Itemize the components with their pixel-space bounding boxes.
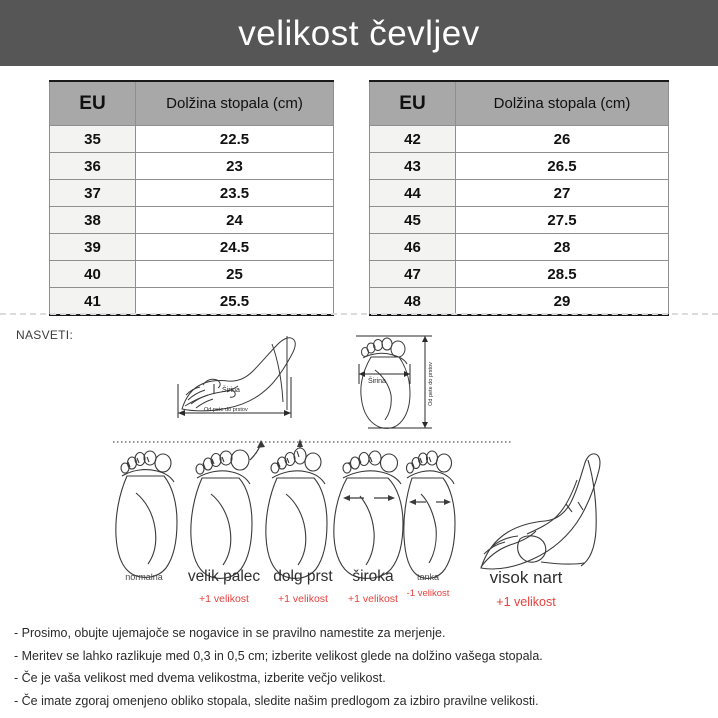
cell-eu: 40 bbox=[50, 261, 136, 288]
table-row: 39 24.5 bbox=[50, 234, 334, 261]
table-header-row: EU Dolžina stopala (cm) bbox=[50, 81, 334, 126]
cell-length: 28 bbox=[456, 234, 669, 261]
cell-length: 29 bbox=[456, 288, 669, 316]
table-row: 46 28 bbox=[370, 234, 669, 261]
size-table-left: EU Dolžina stopala (cm) 35 22.5 36 23 37… bbox=[49, 80, 334, 316]
cell-length: 25 bbox=[136, 261, 334, 288]
cell-eu: 48 bbox=[370, 288, 456, 316]
cell-eu: 39 bbox=[50, 234, 136, 261]
column-header-eu: EU bbox=[370, 81, 456, 126]
note-line: - Prosimo, obujte ujemajoče se nogavice … bbox=[14, 627, 714, 640]
column-header-length: Dolžina stopala (cm) bbox=[136, 81, 334, 126]
cell-length: 28.5 bbox=[456, 261, 669, 288]
cell-length: 24.5 bbox=[136, 234, 334, 261]
table-row: 35 22.5 bbox=[50, 126, 334, 153]
note-line: - Če imate zgoraj omenjeno obliko stopal… bbox=[14, 695, 714, 708]
shape-name: normalna bbox=[112, 572, 176, 582]
shape-name: visok nart bbox=[466, 568, 586, 588]
section-divider bbox=[0, 313, 718, 315]
foot-shape-tanka-icon bbox=[404, 451, 455, 578]
column-header-eu: EU bbox=[50, 81, 136, 126]
side-view-width-label: Širina bbox=[222, 385, 240, 394]
shape-name: dolg prst bbox=[258, 568, 348, 586]
table-row: 44 27 bbox=[370, 180, 669, 207]
table-row: 38 24 bbox=[50, 207, 334, 234]
table-row: 42 26 bbox=[370, 126, 669, 153]
shape-label-tanka: tanka -1 velikost bbox=[392, 572, 464, 600]
shape-adjustment: -1 velikost bbox=[392, 589, 464, 600]
top-view-length-label: Od pete do prstov bbox=[428, 362, 434, 406]
cell-length: 23 bbox=[136, 153, 334, 180]
size-tables-area: EU Dolžina stopala (cm) 35 22.5 36 23 37… bbox=[0, 80, 718, 306]
foot-shape-siroka-icon bbox=[334, 451, 403, 578]
shape-adjustment: +1 velikost bbox=[466, 595, 586, 609]
cell-eu: 36 bbox=[50, 153, 136, 180]
page-title: velikost čevljev bbox=[238, 16, 479, 51]
foot-shape-visok-nart-icon bbox=[481, 454, 600, 569]
footer-notes: - Prosimo, obujte ujemajoče se nogavice … bbox=[14, 627, 714, 717]
side-view-length-label: Od pete do prstov bbox=[204, 407, 248, 413]
cell-length: 26.5 bbox=[456, 153, 669, 180]
foot-shape-normalna-icon bbox=[116, 451, 177, 577]
note-line: - Če je vaša velikost med dvema velikost… bbox=[14, 672, 714, 685]
top-view-width-label: Širina bbox=[368, 376, 386, 385]
note-line: - Meritev se lahko razlikuje med 0,3 in … bbox=[14, 650, 714, 663]
column-header-length: Dolžina stopala (cm) bbox=[456, 81, 669, 126]
cell-length: 27 bbox=[456, 180, 669, 207]
foot-shape-dolg-prst-icon bbox=[266, 448, 327, 578]
cell-eu: 47 bbox=[370, 261, 456, 288]
cell-length: 22.5 bbox=[136, 126, 334, 153]
cell-eu: 46 bbox=[370, 234, 456, 261]
table-row: 45 27.5 bbox=[370, 207, 669, 234]
cell-eu: 45 bbox=[370, 207, 456, 234]
cell-eu: 44 bbox=[370, 180, 456, 207]
side-view-foot-icon bbox=[182, 336, 295, 411]
cell-eu: 37 bbox=[50, 180, 136, 207]
cell-eu: 42 bbox=[370, 126, 456, 153]
table-row: 37 23.5 bbox=[50, 180, 334, 207]
shape-name: tanka bbox=[392, 572, 464, 582]
cell-length: 24 bbox=[136, 207, 334, 234]
foot-shape-labels: normalna velik palec +1 velikost dolg pr… bbox=[0, 568, 718, 618]
cell-length: 23.5 bbox=[136, 180, 334, 207]
table-row: 40 25 bbox=[50, 261, 334, 288]
cell-eu: 41 bbox=[50, 288, 136, 316]
cell-length: 27.5 bbox=[456, 207, 669, 234]
foot-shape-velik-palec-icon bbox=[191, 450, 252, 578]
cell-length: 26 bbox=[456, 126, 669, 153]
shape-label-normalna: normalna bbox=[112, 572, 176, 589]
table-row: 36 23 bbox=[50, 153, 334, 180]
page-header-band: velikost čevljev bbox=[0, 0, 718, 66]
shape-label-dolg-prst: dolg prst +1 velikost bbox=[258, 568, 348, 605]
shape-label-visok-nart: visok nart +1 velikost bbox=[466, 568, 586, 609]
measurement-diagrams: Širina Od pete do prstov Širina Od pete … bbox=[0, 322, 718, 440]
cell-length: 25.5 bbox=[136, 288, 334, 316]
shape-adjustment: +1 velikost bbox=[258, 593, 348, 605]
size-table-right: EU Dolžina stopala (cm) 42 26 43 26.5 44… bbox=[369, 80, 669, 316]
cell-eu: 43 bbox=[370, 153, 456, 180]
table-row: 43 26.5 bbox=[370, 153, 669, 180]
table-header-row: EU Dolžina stopala (cm) bbox=[370, 81, 669, 126]
table-row: 41 25.5 bbox=[50, 288, 334, 316]
cell-eu: 35 bbox=[50, 126, 136, 153]
cell-eu: 38 bbox=[50, 207, 136, 234]
table-row: 47 28.5 bbox=[370, 261, 669, 288]
table-row: 48 29 bbox=[370, 288, 669, 316]
